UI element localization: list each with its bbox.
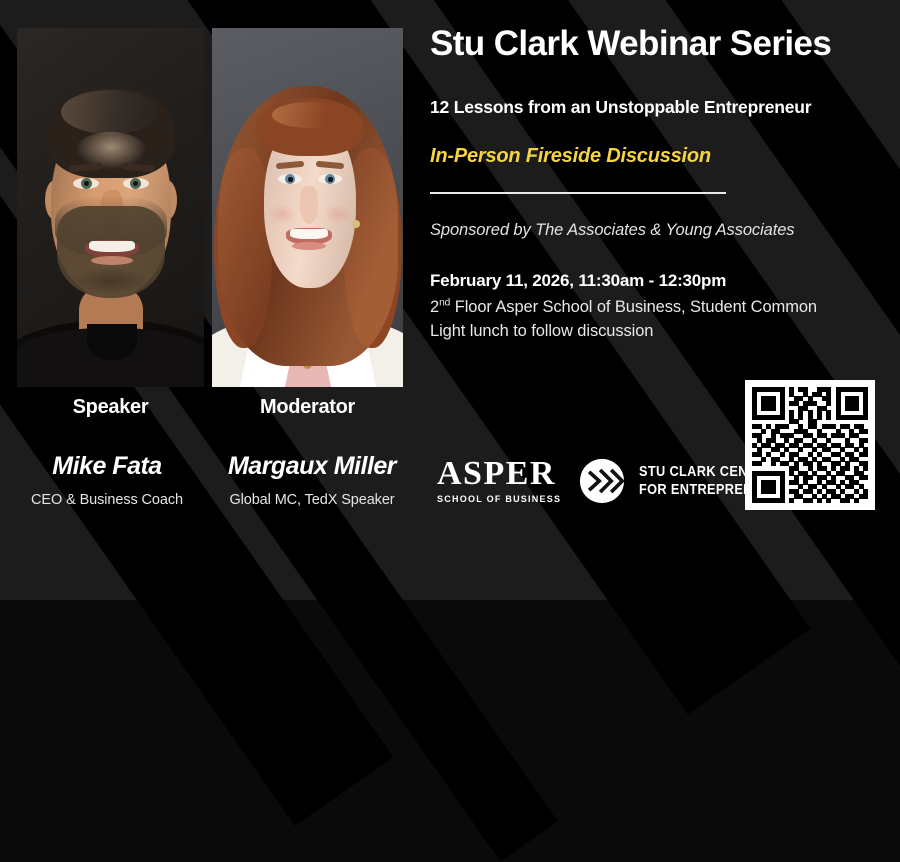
speaker-chin-shadow — [73, 268, 149, 294]
qr-code[interactable] — [745, 380, 875, 510]
speaker-role-label: Speaker — [17, 396, 204, 419]
divider — [430, 192, 726, 194]
moderator-cheek-left — [268, 204, 296, 224]
moderator-pupil-left — [288, 177, 293, 182]
sponsor-line: Sponsored by The Associates & Young Asso… — [430, 221, 885, 240]
location-text: Floor Asper School of Business, Student … — [450, 298, 817, 316]
moderator-earring — [352, 220, 360, 228]
speaker-title: CEO & Business Coach — [7, 492, 207, 508]
moderator-hair-part — [272, 102, 348, 128]
moderator-lower-lip — [292, 242, 326, 250]
moderator-name: Margaux Miller — [212, 452, 412, 481]
speaker-collar — [87, 324, 137, 360]
event-datetime: February 11, 2026, 11:30am - 12:30pm — [430, 271, 885, 291]
speaker-name: Mike Fata — [7, 452, 207, 481]
event-details: Stu Clark Webinar Series 12 Lessons from… — [430, 26, 885, 344]
event-location: 2nd Floor Asper School of Business, Stud… — [430, 296, 885, 320]
location-ordinal-number: 2 — [430, 298, 439, 316]
moderator-nose — [300, 186, 318, 224]
speaker-hairline-sheen — [61, 90, 159, 134]
qr-canvas — [752, 387, 868, 503]
moderator-teeth — [290, 229, 328, 239]
speaker-pupil-right — [133, 181, 138, 186]
moderator-photo — [212, 28, 403, 387]
moderator-cheek-right — [324, 204, 352, 224]
page-title: Stu Clark Webinar Series — [430, 26, 885, 63]
event-tagline: In-Person Fireside Discussion — [430, 145, 885, 168]
speaker-pupil-left — [84, 181, 89, 186]
speaker-photo — [17, 28, 204, 387]
location-ordinal-suffix: nd — [439, 297, 450, 308]
asper-subtitle: SCHOOL OF BUSINESS — [437, 493, 561, 504]
moderator-title: Global MC, TedX Speaker — [212, 492, 412, 508]
speaker-teeth — [89, 241, 135, 252]
chevron-circle-icon — [579, 458, 625, 504]
speaker-lower-lip — [91, 256, 133, 265]
moderator-pupil-right — [328, 177, 333, 182]
event-subtitle: 12 Lessons from an Unstoppable Entrepren… — [430, 97, 885, 118]
asper-word: ASPER — [437, 458, 567, 490]
event-note: Light lunch to follow discussion — [430, 320, 885, 344]
asper-wordmark: ASPER SCHOOL OF BUSINESS — [437, 458, 567, 503]
moderator-role-label: Moderator — [212, 396, 403, 419]
